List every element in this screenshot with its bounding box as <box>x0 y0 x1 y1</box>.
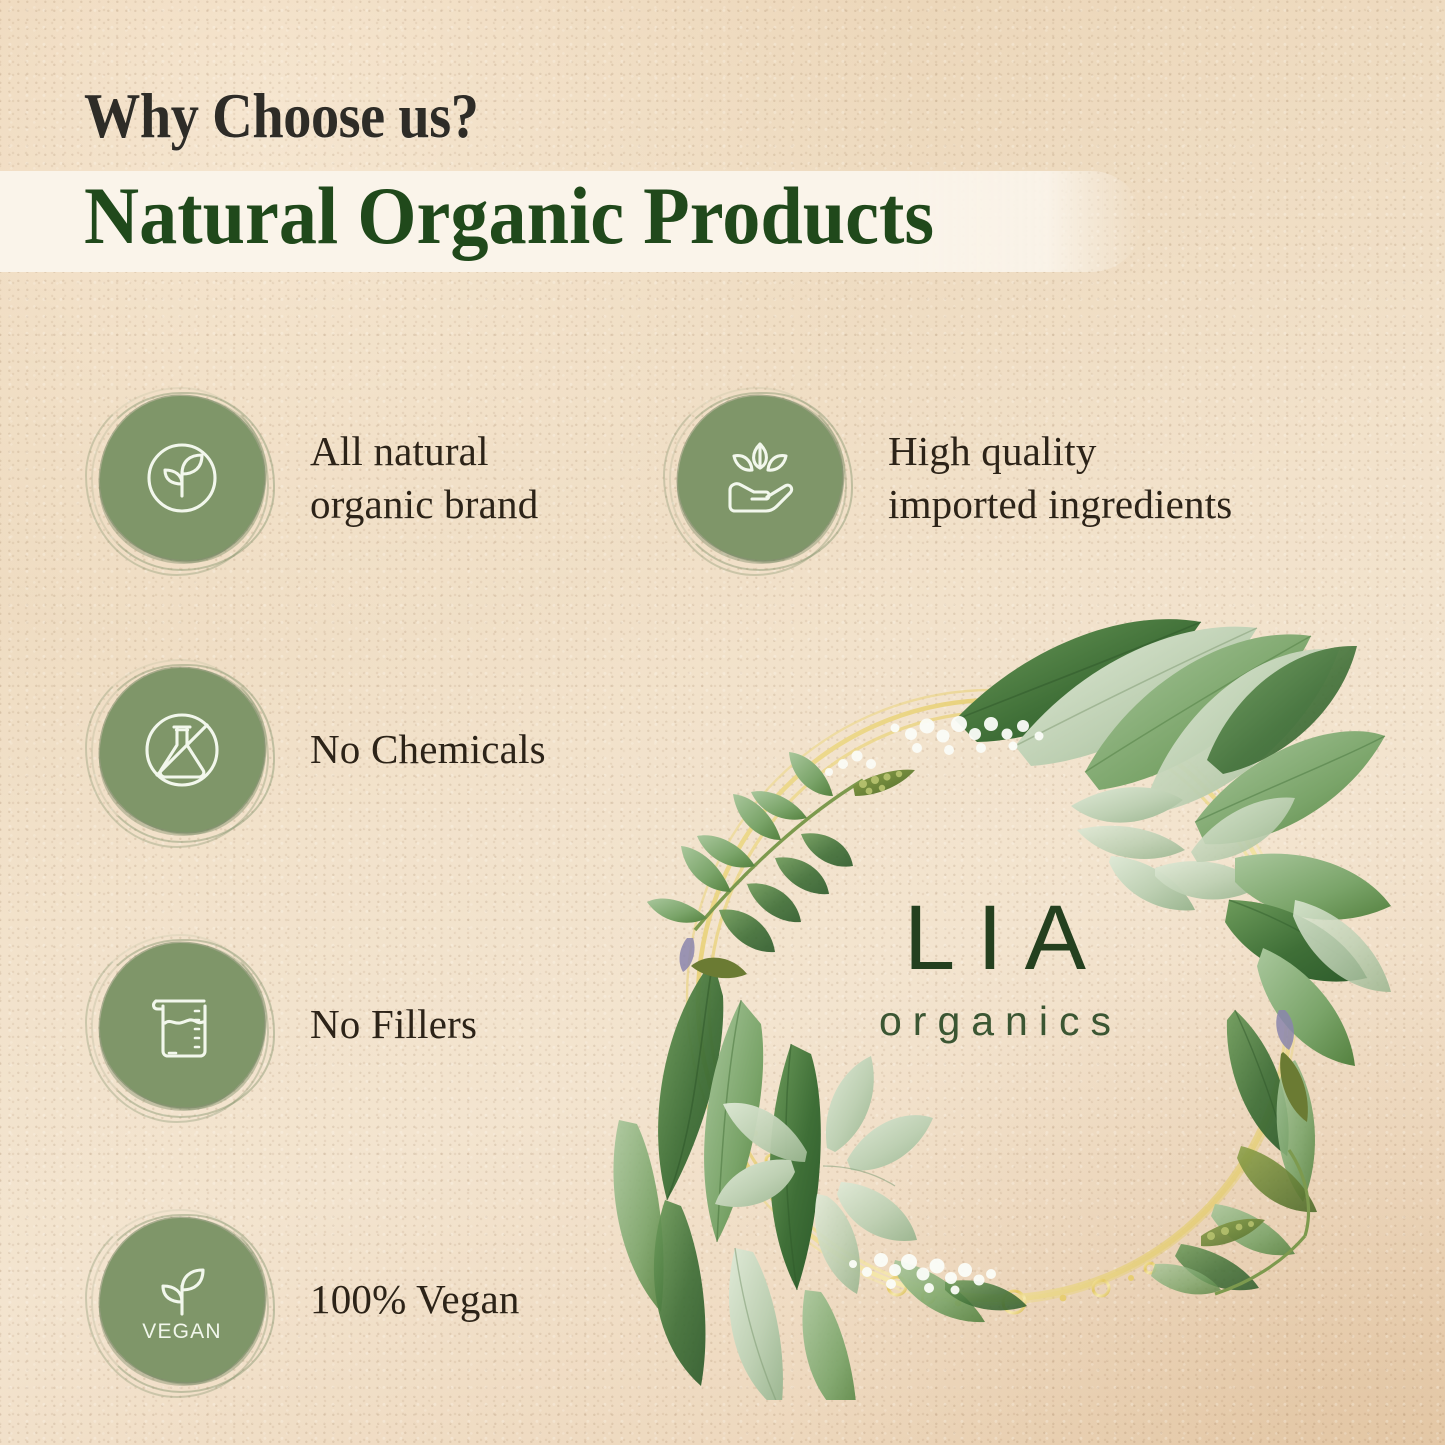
badge-high-quality <box>672 390 848 566</box>
beaker-icon <box>132 975 232 1075</box>
badge-vegan: VEGAN <box>94 1212 270 1388</box>
feature-label: High quality imported ingredients <box>888 425 1232 532</box>
badge-no-chemicals <box>94 662 270 838</box>
feature-item-vegan: VEGAN 100% Vegan <box>94 1212 520 1388</box>
feature-label: 100% Vegan <box>310 1273 520 1326</box>
poster-canvas: Why Choose us? Natural Organic Products … <box>0 0 1445 1445</box>
feature-label: No Chemicals <box>310 723 546 776</box>
vegan-sprout-icon: VEGAN <box>132 1250 232 1350</box>
feature-item-no-chemicals: No Chemicals <box>94 662 546 838</box>
hand-holding-leaves-icon <box>710 428 810 528</box>
feature-list: All natural organic brand <box>0 0 1445 1445</box>
sprout-in-circle-icon <box>132 428 232 528</box>
feature-label: All natural organic brand <box>310 425 538 532</box>
badge-no-fillers <box>94 937 270 1113</box>
vegan-badge-text: VEGAN <box>142 1320 222 1343</box>
feature-item-all-natural: All natural organic brand <box>94 390 538 566</box>
feature-item-high-quality: High quality imported ingredients <box>672 390 1232 566</box>
badge-all-natural <box>94 390 270 566</box>
feature-item-no-fillers: No Fillers <box>94 937 477 1113</box>
feature-label: No Fillers <box>310 998 477 1051</box>
no-chemicals-flask-icon <box>132 700 232 800</box>
